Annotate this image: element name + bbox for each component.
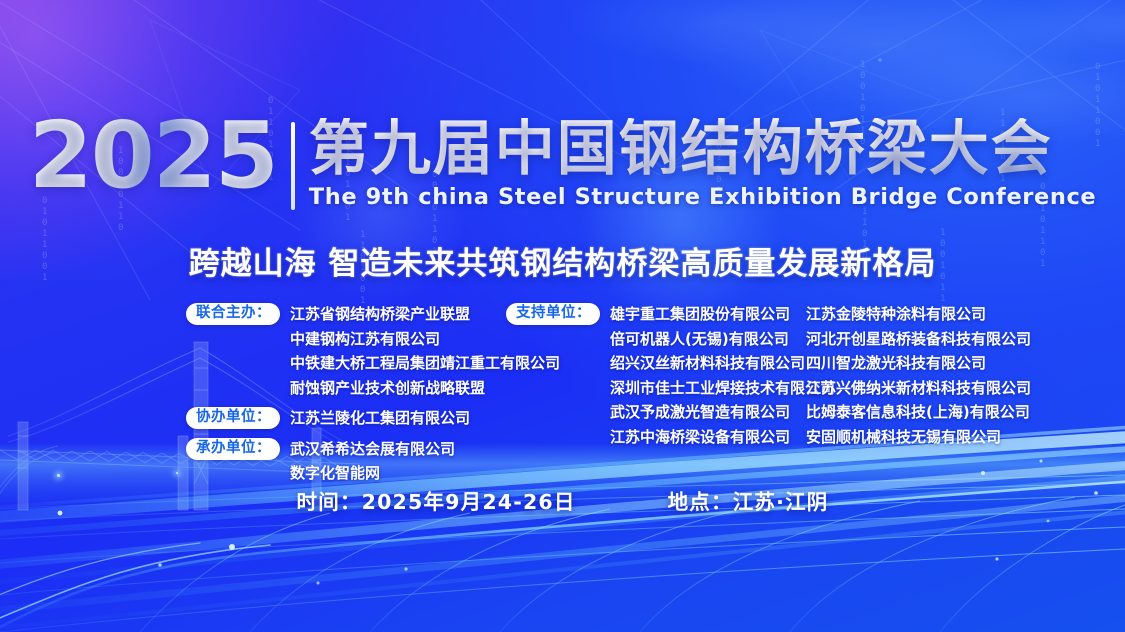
list-item: 河北开创星路桥装备科技有限公司 xyxy=(806,327,1045,352)
banner-content: 2025 第九届中国钢结构桥梁大会 The 9th china Steel St… xyxy=(0,0,1125,632)
org-group-undertakers: 承办单位： 武汉希希达会展有限公司 数字化智能网 xyxy=(186,437,506,486)
event-location: 地点：江苏·江阴 xyxy=(668,485,829,515)
list-item: 江苏兰陵化工集团有限公司 xyxy=(290,406,470,431)
pill-supporters: 支持单位： xyxy=(506,303,600,325)
tagline: 跨越山海 智造未来共筑钢结构桥梁高质量发展新格局 xyxy=(0,238,1125,283)
conference-banner: 0 1 0 1 1 0 0 1 1 0 0 1 0 1 1 0 0 1 1 0 … xyxy=(0,0,1125,632)
org-group-supporters: 支持单位： 雄宇重工集团股份有限公司 倍可机器人(无锡)有限公司 绍兴汉丝新材料… xyxy=(506,302,801,449)
list-item: 四川智龙激光科技有限公司 xyxy=(806,351,1045,376)
title-divider xyxy=(291,122,295,210)
organizers-column-right: 江苏金陵特种涂料有限公司 河北开创星路桥装备科技有限公司 四川智龙激光科技有限公… xyxy=(801,302,1045,449)
list-item: 数字化智能网 xyxy=(290,461,455,486)
pill-co-hosts: 联合主办： xyxy=(186,303,280,325)
list-item: 武汉希希达会展有限公司 xyxy=(290,437,455,462)
organizers-column-middle: 支持单位： 雄宇重工集团股份有限公司 倍可机器人(无锡)有限公司 绍兴汉丝新材料… xyxy=(506,302,801,455)
organizers-column-left: 联合主办： 江苏省钢结构桥梁产业联盟 中建钢构江苏有限公司 中铁建大桥工程局集团… xyxy=(186,302,506,492)
list-item: 安固顺机械科技无锡有限公司 xyxy=(806,425,1045,450)
list-item: 比姆泰客信息科技(上海)有限公司 xyxy=(806,400,1045,425)
title-block: 第九届中国钢结构桥梁大会 The 9th china Steel Structu… xyxy=(309,118,1097,210)
supporter-list: 雄宇重工集团股份有限公司 倍可机器人(无锡)有限公司 绍兴汉丝新材料科技有限公司… xyxy=(600,302,835,449)
main-title-en: The 9th china Steel Structure Exhibition… xyxy=(309,184,1097,210)
list-item: 江苏金陵特种涂料有限公司 xyxy=(806,302,1045,327)
co-organizer-list: 江苏兰陵化工集团有限公司 xyxy=(280,406,470,431)
event-date: 时间：2025年9月24-26日 xyxy=(297,485,576,515)
event-meta-row: 时间：2025年9月24-26日 地点：江苏·江阴 xyxy=(0,485,1125,515)
undertaker-list: 武汉希希达会展有限公司 数字化智能网 xyxy=(280,437,455,486)
list-item: 江苏兴佛纳米新材料科技有限公司 xyxy=(806,376,1045,401)
pill-co-organizers: 协办单位： xyxy=(186,407,280,429)
org-group-co-hosts: 联合主办： 江苏省钢结构桥梁产业联盟 中建钢构江苏有限公司 中铁建大桥工程局集团… xyxy=(186,302,506,400)
org-group-co-organizers: 协办单位： 江苏兰陵化工集团有限公司 xyxy=(186,406,506,431)
organizers-section: 联合主办： 江苏省钢结构桥梁产业联盟 中建钢构江苏有限公司 中铁建大桥工程局集团… xyxy=(186,302,1045,492)
year-text: 2025 xyxy=(29,114,287,199)
pill-undertakers: 承办单位： xyxy=(186,438,280,460)
main-title-cn: 第九届中国钢结构桥梁大会 xyxy=(309,118,1097,182)
title-row: 2025 第九届中国钢结构桥梁大会 The 9th china Steel St… xyxy=(0,118,1125,210)
